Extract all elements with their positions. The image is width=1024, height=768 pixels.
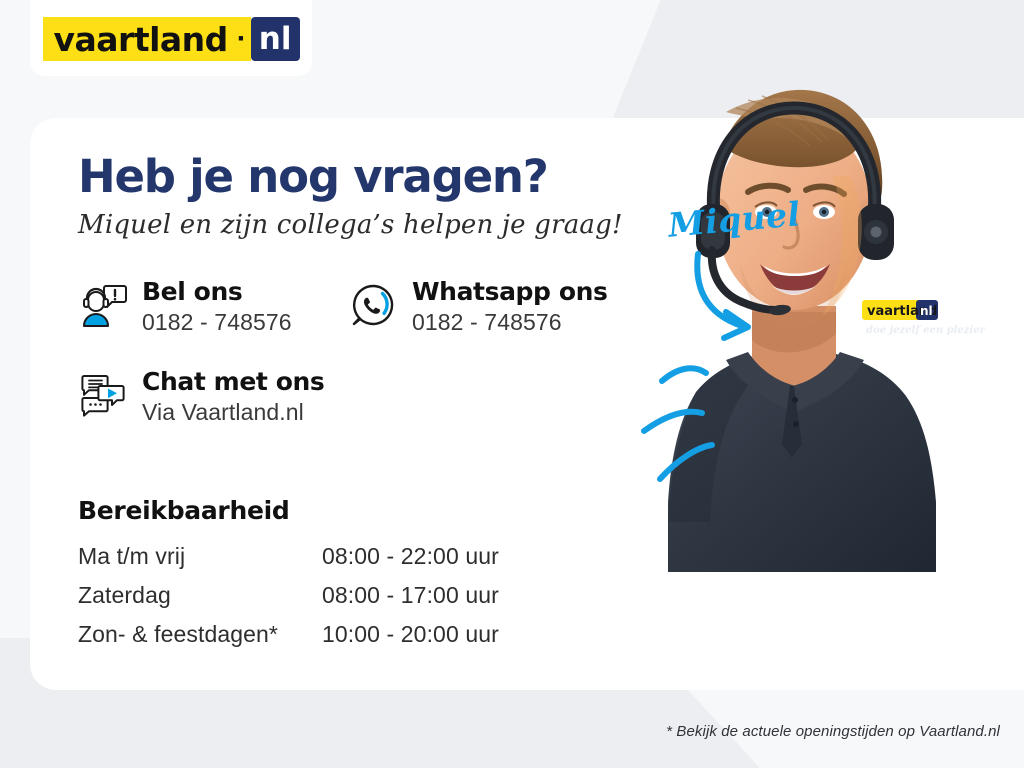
brand-logo-tld: nl: [251, 17, 300, 61]
brand-logo[interactable]: vaartland · nl: [30, 0, 312, 76]
brand-logo-inner: vaartland · nl: [43, 17, 300, 61]
headset-person-speech-bubble-icon: [78, 280, 128, 330]
page-title: Heb je nog vragen?: [78, 150, 548, 203]
contact-option-whatsapp-text: Whatsapp ons 0182 - 748576: [412, 278, 608, 335]
contact-option-call-title: Bel ons: [142, 278, 292, 306]
brand-logo-word: vaartland: [43, 17, 237, 61]
table-row: Ma t/m vrij 08:00 - 22:00 uur: [78, 543, 499, 582]
opening-hours-table: Ma t/m vrij 08:00 - 22:00 uur Zaterdag 0…: [78, 543, 499, 660]
contact-option-chat-text: Chat met ons Via Vaartland.nl: [142, 368, 324, 425]
page-subtitle: Miquel en zijn collega’s helpen je graag…: [78, 210, 623, 240]
contact-option-call-text: Bel ons 0182 - 748576: [142, 278, 292, 335]
brand-logo-separator: ·: [237, 17, 251, 61]
contact-option-whatsapp-title: Whatsapp ons: [412, 278, 608, 306]
table-row: Zaterdag 08:00 - 17:00 uur: [78, 582, 499, 621]
footnote-text: * Bekijk de actuele openingstijden op Va…: [666, 723, 1000, 740]
content-card: Heb je nog vragen? Miquel en zijn colleg…: [30, 118, 1024, 690]
contact-option-call-number[interactable]: 0182 - 748576: [142, 309, 292, 335]
motion-lines-icon: [640, 355, 760, 500]
whatsapp-phone-bubble-icon: [348, 280, 398, 330]
chat-bubbles-play-icon: [78, 370, 128, 420]
contact-option-chat[interactable]: Chat met ons Via Vaartland.nl: [78, 368, 324, 425]
content-card-inner: Heb je nog vragen? Miquel en zijn colleg…: [30, 118, 1024, 690]
contact-option-chat-title: Chat met ons: [142, 368, 324, 396]
opening-hours-day: Zaterdag: [78, 582, 322, 621]
opening-hours-section: Bereikbaarheid Ma t/m vrij 08:00 - 22:00…: [78, 496, 499, 660]
contact-option-whatsapp-number[interactable]: 0182 - 748576: [412, 309, 608, 335]
table-row: Zon- & feestdagen* 10:00 - 20:00 uur: [78, 621, 499, 660]
opening-hours-time: 08:00 - 22:00 uur: [322, 543, 499, 582]
opening-hours-day: Ma t/m vrij: [78, 543, 322, 582]
contact-option-chat-link[interactable]: Via Vaartland.nl: [142, 399, 324, 425]
curved-arrow-right-icon: [690, 248, 800, 363]
opening-hours-time: 10:00 - 20:00 uur: [322, 621, 499, 660]
opening-hours-day: Zon- & feestdagen*: [78, 621, 322, 660]
contact-option-call[interactable]: Bel ons 0182 - 748576: [78, 278, 292, 335]
opening-hours-time: 08:00 - 17:00 uur: [322, 582, 499, 621]
contact-option-whatsapp[interactable]: Whatsapp ons 0182 - 748576: [348, 278, 608, 335]
opening-hours-title: Bereikbaarheid: [78, 496, 499, 525]
